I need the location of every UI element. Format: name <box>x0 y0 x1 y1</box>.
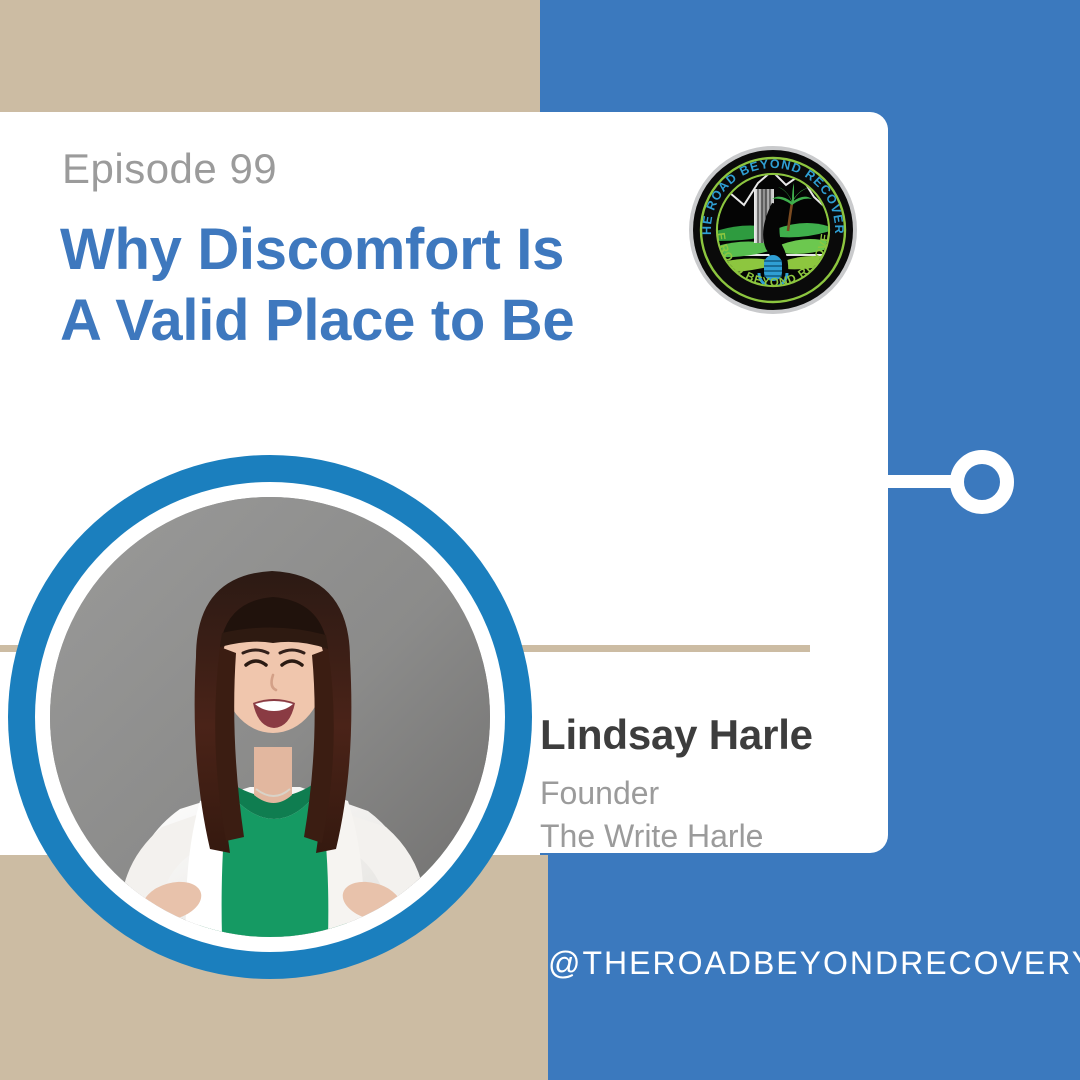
episode-title-line-1: Why Discomfort Is <box>60 215 700 286</box>
pin-ring-icon <box>950 450 1014 514</box>
guest-portrait-ring <box>8 455 532 979</box>
speaker-role: Founder <box>540 772 659 815</box>
speaker-organization: The Write Harle <box>540 815 763 858</box>
episode-title: Why Discomfort Is A Valid Place to Be <box>60 215 700 357</box>
guest-portrait-inner-gap <box>35 482 505 952</box>
episode-graphic-canvas: Episode 99 Why Discomfort Is A Valid Pla… <box>0 0 1080 1080</box>
episode-number-label: Episode 99 <box>62 148 277 190</box>
episode-title-line-2: A Valid Place to Be <box>60 286 700 357</box>
guest-portrait-photo <box>50 497 490 937</box>
speaker-name: Lindsay Harle <box>540 712 813 758</box>
pin-connector-line <box>888 475 958 488</box>
podcast-logo-icon: THE ROAD BEYOND RECOVERY THE ROAD BEYOND… <box>688 145 858 315</box>
background-beige-top-band <box>0 0 540 112</box>
social-handle: @THEROADBEYONDRECOVERY <box>548 945 1080 982</box>
